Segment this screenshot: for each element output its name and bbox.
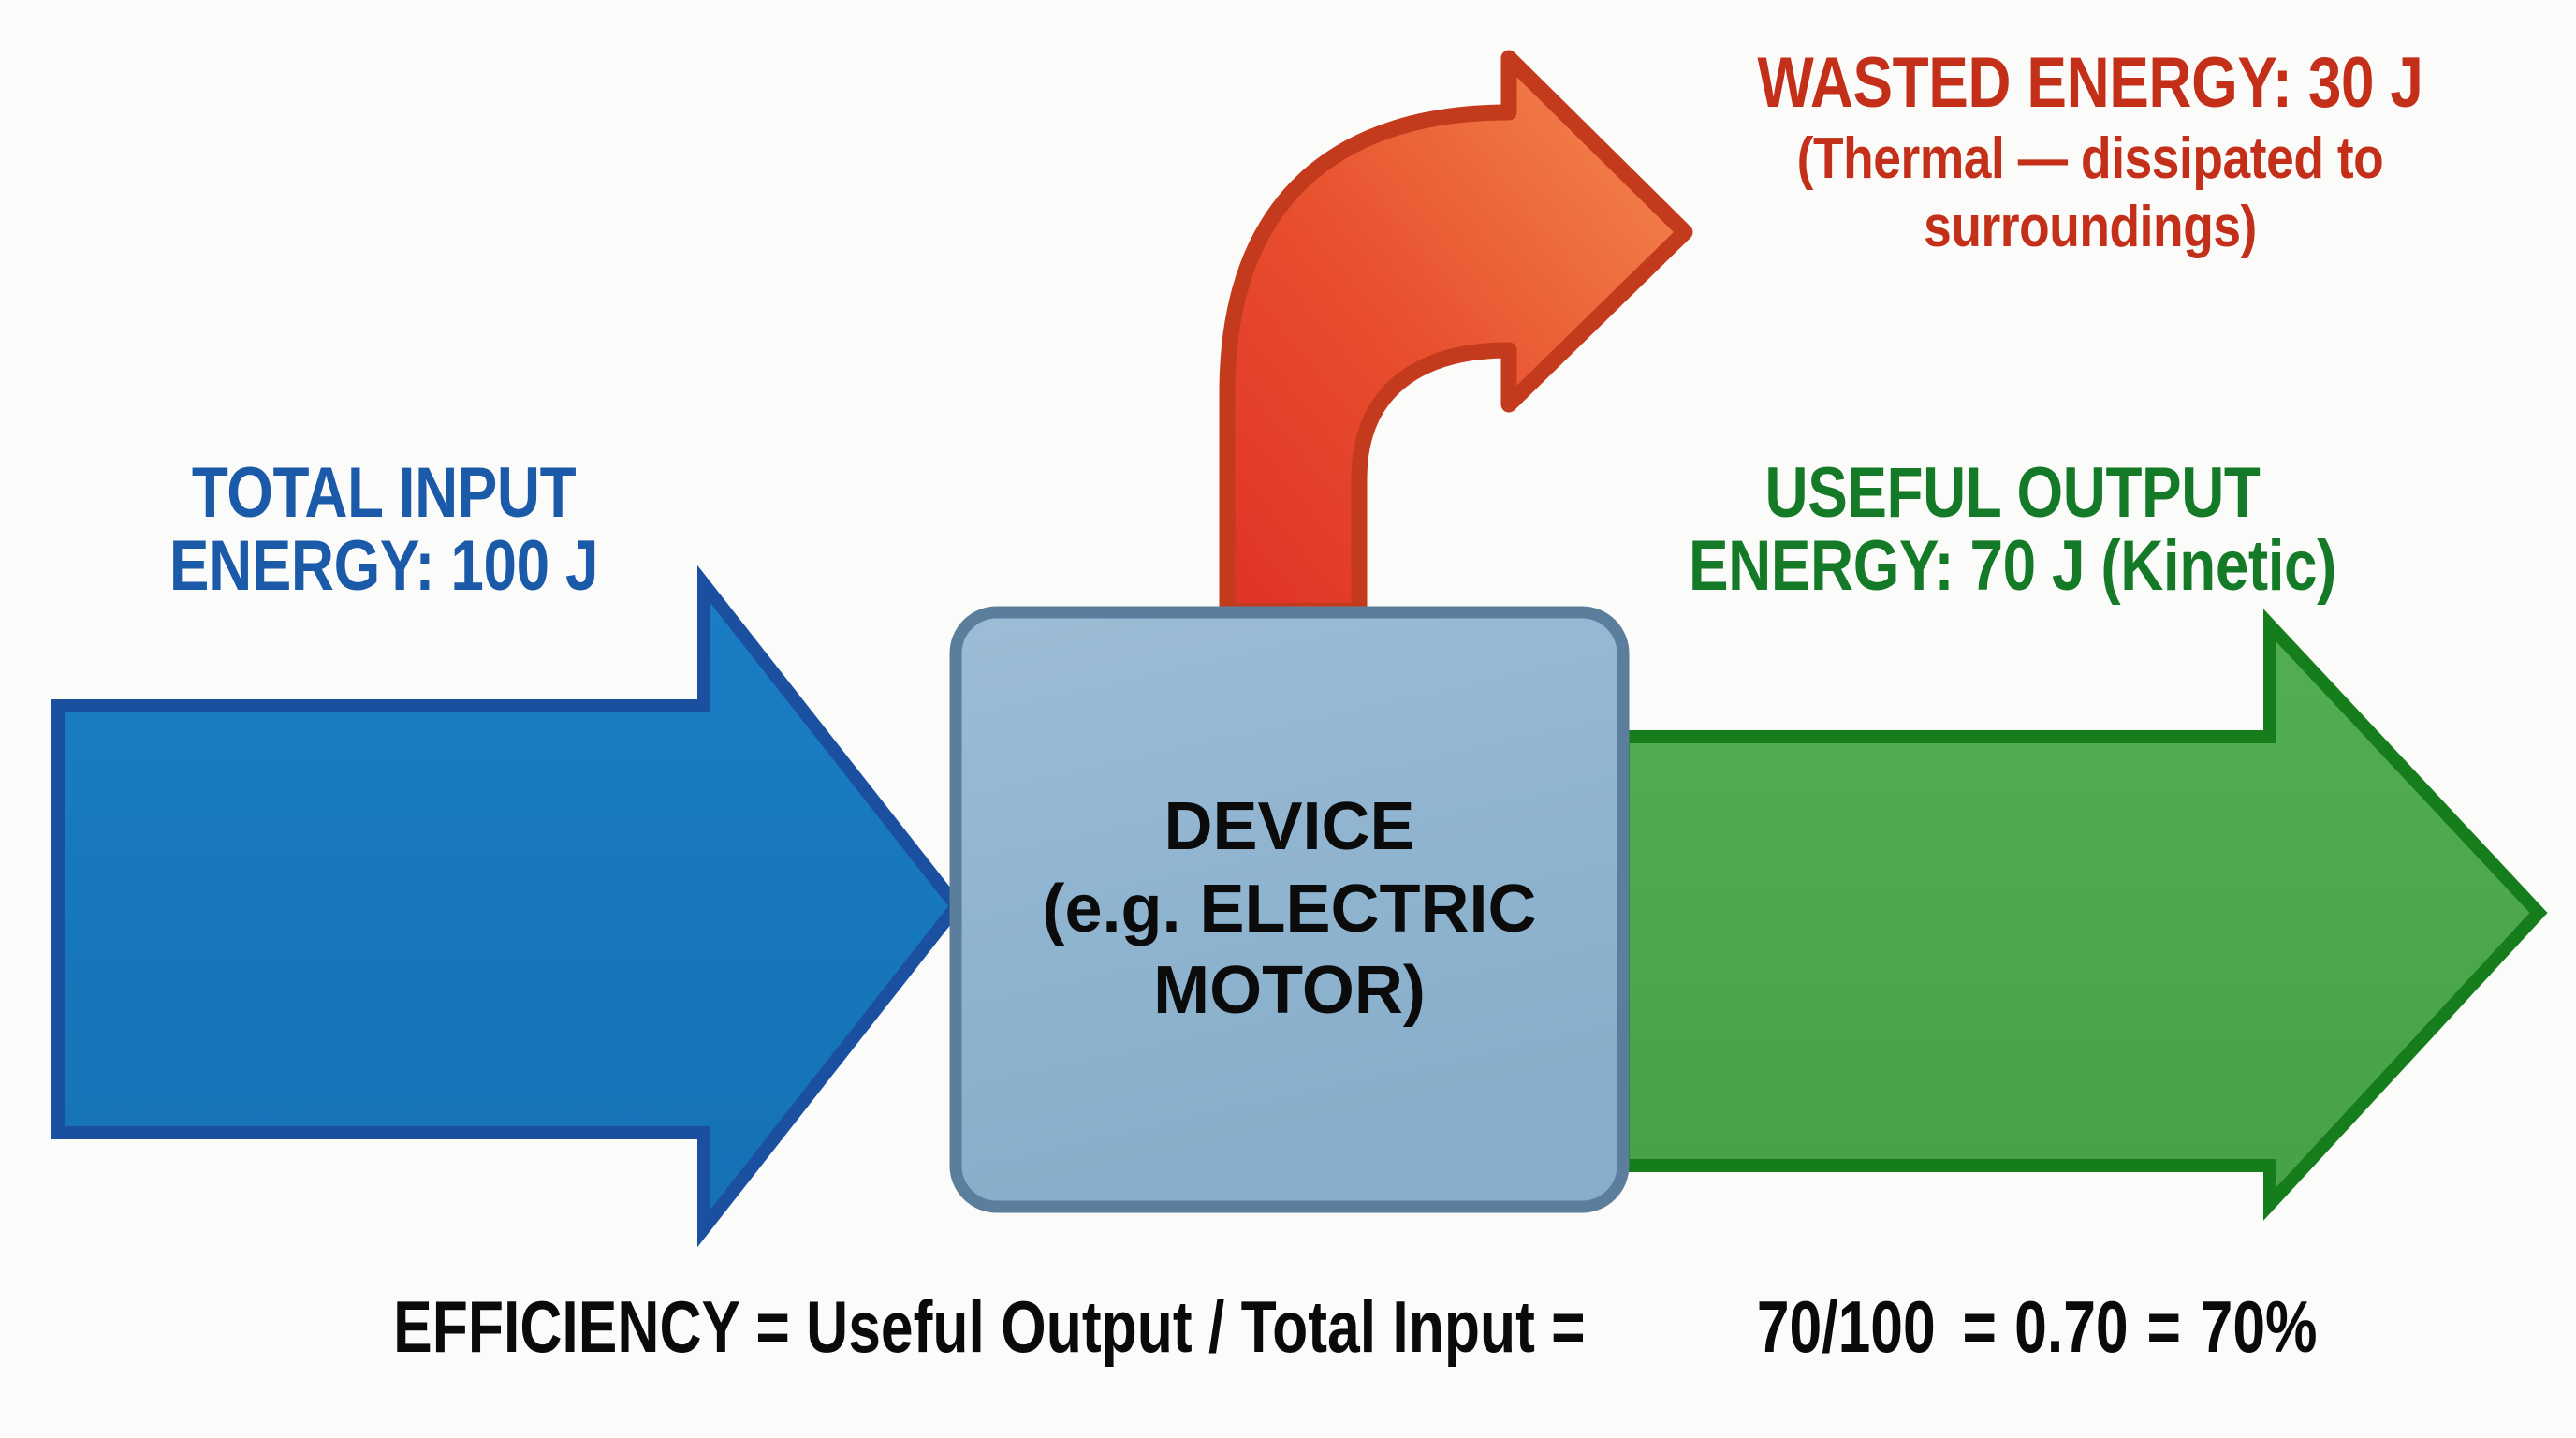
useful-output-label: USEFUL OUTPUT ENERGY: 70 J (Kinetic)	[1548, 457, 2476, 602]
output-arrow	[1623, 625, 2539, 1204]
efficiency-fraction: 70/100	[1757, 1284, 1936, 1370]
efficiency-equals-2: =	[2147, 1284, 2181, 1370]
wasted-label-heading: WASTED ENERGY: 30 J	[1724, 47, 2455, 120]
wasted-label-sub2: surroundings)	[1716, 198, 2465, 257]
efficiency-formula: EFFICIENCY = Useful Output / Total Input…	[0, 1284, 2576, 1370]
input-label-line2: ENERGY: 100 J	[109, 530, 659, 603]
wasted-label-sub1: (Thermal — dissipated to	[1716, 129, 2465, 188]
input-arrow	[58, 584, 957, 1228]
input-energy-label: TOTAL INPUT ENERGY: 100 J	[109, 457, 659, 602]
useful-label-line2: ENERGY: 70 J (Kinetic)	[1548, 530, 2476, 603]
efficiency-decimal: 0.70	[2014, 1284, 2128, 1370]
diagram-canvas: TOTAL INPUT ENERGY: 100 J WASTED ENERGY:…	[0, 0, 2576, 1438]
useful-label-line1: USEFUL OUTPUT	[1548, 457, 2476, 530]
efficiency-percent: 70%	[2200, 1284, 2317, 1370]
device-box	[956, 612, 1623, 1207]
input-label-line1: TOTAL INPUT	[109, 457, 659, 530]
wasted-energy-label: WASTED ENERGY: 30 J (Thermal — dissipate…	[1655, 47, 2525, 257]
efficiency-prefix: EFFICIENCY = Useful Output / Total Input…	[393, 1284, 1585, 1370]
efficiency-equals-1: =	[1962, 1284, 1996, 1370]
